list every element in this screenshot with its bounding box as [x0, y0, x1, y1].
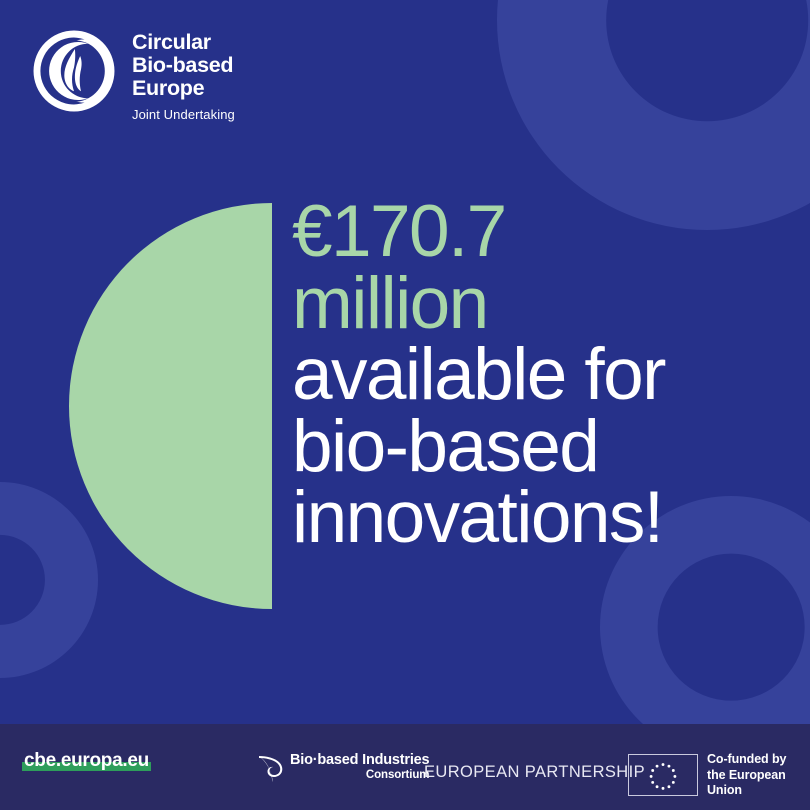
bic-line-1: Bio·based Industries — [290, 753, 429, 769]
eu-cofunding-text: Co-funded by the European Union — [707, 752, 810, 799]
promo-card: Circular Bio-based Europe Joint Undertak… — [0, 0, 810, 810]
website-link-wrap[interactable]: cbe.europa.eu — [22, 750, 151, 772]
eu-flag-icon — [628, 754, 698, 796]
green-half-circle-decor — [69, 203, 272, 609]
logo-subtitle: Joint Undertaking — [132, 107, 235, 122]
headline: €170.7 million available for bio-based i… — [292, 196, 692, 554]
eu-cofunding-logo: Co-funded by the European Union — [628, 752, 810, 799]
bic-line-2: Consortium — [290, 769, 429, 781]
headline-line-4: bio-based — [292, 411, 692, 483]
bic-wordmark: Bio·based Industries Consortium — [290, 753, 429, 781]
leaf-icon — [258, 752, 284, 782]
website-link-label: cbe.europa.eu — [24, 750, 149, 771]
headline-line-2: million — [292, 268, 692, 340]
eu-line-1: Co-funded by — [707, 752, 810, 768]
european-partnership-label: EUROPEAN PARTNERSHIP — [424, 763, 645, 782]
circular-leaf-logo-icon — [30, 27, 118, 115]
logo-title: Circular Bio-based Europe — [132, 31, 235, 100]
bic-logo: Bio·based Industries Consortium — [258, 752, 429, 782]
eu-line-2: the European Union — [707, 768, 810, 799]
website-link[interactable]: cbe.europa.eu — [22, 750, 151, 772]
ring-left-edge-decor — [0, 482, 98, 678]
logo-wordmark: Circular Bio-based Europe Joint Undertak… — [132, 27, 235, 122]
headline-line-1: €170.7 — [292, 196, 692, 268]
headline-line-3: available for — [292, 339, 692, 411]
cbe-ju-logo: Circular Bio-based Europe Joint Undertak… — [30, 27, 235, 122]
headline-line-5: innovations! — [292, 482, 692, 554]
